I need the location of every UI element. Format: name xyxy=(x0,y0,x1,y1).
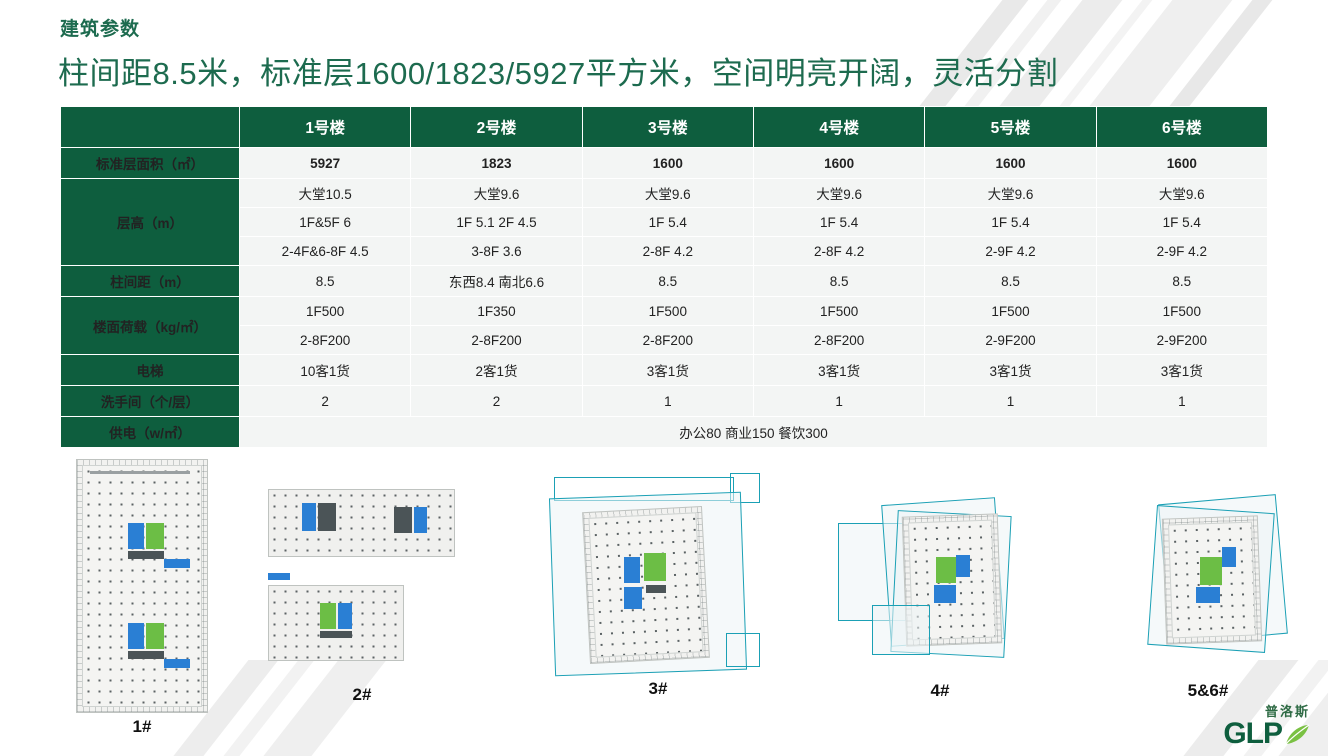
logo-wordmark: GLP xyxy=(1223,720,1310,749)
cell-area-3: 1600 xyxy=(582,148,753,179)
cell-restroom-1: 2 xyxy=(240,386,411,417)
table-row: 电梯 10客1货 2客1货 3客1货 3客1货 3客1货 3客1货 xyxy=(61,355,1268,386)
cell-elevator-1: 10客1货 xyxy=(240,355,411,386)
floorplan-3[interactable]: 3# xyxy=(548,473,768,723)
leaf-icon xyxy=(1284,723,1310,745)
logo-text: GLP xyxy=(1223,717,1282,750)
floorplan-3-caption: 3# xyxy=(548,679,768,699)
cell-height-b3: 1F 5.4 xyxy=(582,208,753,237)
column-header-3: 3号楼 xyxy=(582,107,753,148)
floorplan-2-caption: 2# xyxy=(262,685,462,705)
cell-height-c6: 2-9F 4.2 xyxy=(1096,237,1267,266)
cell-restroom-6: 1 xyxy=(1096,386,1267,417)
table-corner-cell xyxy=(61,107,240,148)
cell-load-a4: 1F500 xyxy=(753,297,924,326)
table-row: 供电（w/㎡） 办公80 商业150 餐饮300 xyxy=(61,417,1268,448)
cell-area-4: 1600 xyxy=(753,148,924,179)
table-row: 洗手间（个/层） 2 2 1 1 1 1 xyxy=(61,386,1268,417)
row-label-restroom: 洗手间（个/层） xyxy=(61,386,240,417)
table-row: 层高（m） 大堂10.5 大堂9.6 大堂9.6 大堂9.6 大堂9.6 大堂9… xyxy=(61,179,1268,208)
cell-load-a6: 1F500 xyxy=(1096,297,1267,326)
table-row: 柱间距（m） 8.5 东西8.4 南北6.6 8.5 8.5 8.5 8.5 xyxy=(61,266,1268,297)
cell-spacing-6: 8.5 xyxy=(1096,266,1267,297)
cell-load-a3: 1F500 xyxy=(582,297,753,326)
row-label-floor-load: 楼面荷载（kg/㎡） xyxy=(61,297,240,355)
floorplan-5-6[interactable]: 5&6# xyxy=(1108,495,1308,725)
cell-area-6: 1600 xyxy=(1096,148,1267,179)
cell-height-a6: 大堂9.6 xyxy=(1096,179,1267,208)
row-label-elevator: 电梯 xyxy=(61,355,240,386)
table-row: 标准层面积（㎡） 5927 1823 1600 1600 1600 1600 xyxy=(61,148,1268,179)
table-row: 楼面荷载（kg/㎡） 1F500 1F350 1F500 1F500 1F500… xyxy=(61,297,1268,326)
cell-load-b1: 2-8F200 xyxy=(240,326,411,355)
cell-height-b4: 1F 5.4 xyxy=(753,208,924,237)
cell-height-b2: 1F 5.1 2F 4.5 xyxy=(411,208,582,237)
floorplan-5-6-caption: 5&6# xyxy=(1108,681,1308,701)
table-row: 2-4F&6-8F 4.5 3-8F 3.6 2-8F 4.2 2-8F 4.2… xyxy=(61,237,1268,266)
cell-spacing-4: 8.5 xyxy=(753,266,924,297)
row-label-power-supply: 供电（w/㎡） xyxy=(61,417,240,448)
table-header-row: 1号楼 2号楼 3号楼 4号楼 5号楼 6号楼 xyxy=(61,107,1268,148)
cell-load-a1: 1F500 xyxy=(240,297,411,326)
floorplan-1[interactable]: 1# xyxy=(68,455,216,745)
cell-height-c4: 2-8F 4.2 xyxy=(753,237,924,266)
cell-restroom-5: 1 xyxy=(925,386,1096,417)
cell-area-5: 1600 xyxy=(925,148,1096,179)
cell-load-b2: 2-8F200 xyxy=(411,326,582,355)
column-header-1: 1号楼 xyxy=(240,107,411,148)
floorplan-4-caption: 4# xyxy=(832,681,1048,701)
cell-load-a5: 1F500 xyxy=(925,297,1096,326)
section-kicker: 建筑参数 xyxy=(60,14,140,41)
cell-height-c5: 2-9F 4.2 xyxy=(925,237,1096,266)
cell-load-b4: 2-8F200 xyxy=(753,326,924,355)
cell-spacing-1: 8.5 xyxy=(240,266,411,297)
column-header-4: 4号楼 xyxy=(753,107,924,148)
page-title: 柱间距8.5米，标准层1600/1823/5927平方米，空间明亮开阔，灵活分割 xyxy=(58,48,1058,93)
row-label-standard-floor-area: 标准层面积（㎡） xyxy=(61,148,240,179)
table-row: 2-8F200 2-8F200 2-8F200 2-8F200 2-9F200 … xyxy=(61,326,1268,355)
cell-height-a5: 大堂9.6 xyxy=(925,179,1096,208)
cell-height-b1: 1F&5F 6 xyxy=(240,208,411,237)
cell-load-a2: 1F350 xyxy=(411,297,582,326)
floorplan-gallery: 1# 2# 3# 4# xyxy=(0,455,1328,755)
cell-height-a3: 大堂9.6 xyxy=(582,179,753,208)
cell-elevator-4: 3客1货 xyxy=(753,355,924,386)
cell-load-b6: 2-9F200 xyxy=(1096,326,1267,355)
cell-load-b5: 2-9F200 xyxy=(925,326,1096,355)
cell-spacing-3: 8.5 xyxy=(582,266,753,297)
floorplan-4[interactable]: 4# xyxy=(832,495,1048,725)
cell-power-supply-merged: 办公80 商业150 餐饮300 xyxy=(240,417,1268,448)
cell-area-2: 1823 xyxy=(411,148,582,179)
cell-load-b3: 2-8F200 xyxy=(582,326,753,355)
cell-height-a2: 大堂9.6 xyxy=(411,179,582,208)
cell-restroom-4: 1 xyxy=(753,386,924,417)
column-header-2: 2号楼 xyxy=(411,107,582,148)
floorplan-1-caption: 1# xyxy=(68,717,216,737)
cell-spacing-2: 东西8.4 南北6.6 xyxy=(411,266,582,297)
cell-height-a4: 大堂9.6 xyxy=(753,179,924,208)
cell-elevator-3: 3客1货 xyxy=(582,355,753,386)
column-header-6: 6号楼 xyxy=(1096,107,1267,148)
cell-spacing-5: 8.5 xyxy=(925,266,1096,297)
cell-restroom-2: 2 xyxy=(411,386,582,417)
column-header-5: 5号楼 xyxy=(925,107,1096,148)
cell-restroom-3: 1 xyxy=(582,386,753,417)
brand-logo: 普洛斯 GLP xyxy=(1223,701,1310,749)
row-label-column-spacing: 柱间距（m） xyxy=(61,266,240,297)
row-label-floor-height: 层高（m） xyxy=(61,179,240,266)
table-row: 1F&5F 6 1F 5.1 2F 4.5 1F 5.4 1F 5.4 1F 5… xyxy=(61,208,1268,237)
cell-height-c3: 2-8F 4.2 xyxy=(582,237,753,266)
cell-height-c2: 3-8F 3.6 xyxy=(411,237,582,266)
cell-height-c1: 2-4F&6-8F 4.5 xyxy=(240,237,411,266)
cell-elevator-6: 3客1货 xyxy=(1096,355,1267,386)
cell-area-1: 5927 xyxy=(240,148,411,179)
cell-height-b6: 1F 5.4 xyxy=(1096,208,1267,237)
building-parameters-table: 1号楼 2号楼 3号楼 4号楼 5号楼 6号楼 标准层面积（㎡） 5927 18… xyxy=(60,106,1268,448)
floorplan-2[interactable]: 2# xyxy=(262,485,462,715)
cell-elevator-2: 2客1货 xyxy=(411,355,582,386)
cell-height-a1: 大堂10.5 xyxy=(240,179,411,208)
cell-height-b5: 1F 5.4 xyxy=(925,208,1096,237)
cell-elevator-5: 3客1货 xyxy=(925,355,1096,386)
